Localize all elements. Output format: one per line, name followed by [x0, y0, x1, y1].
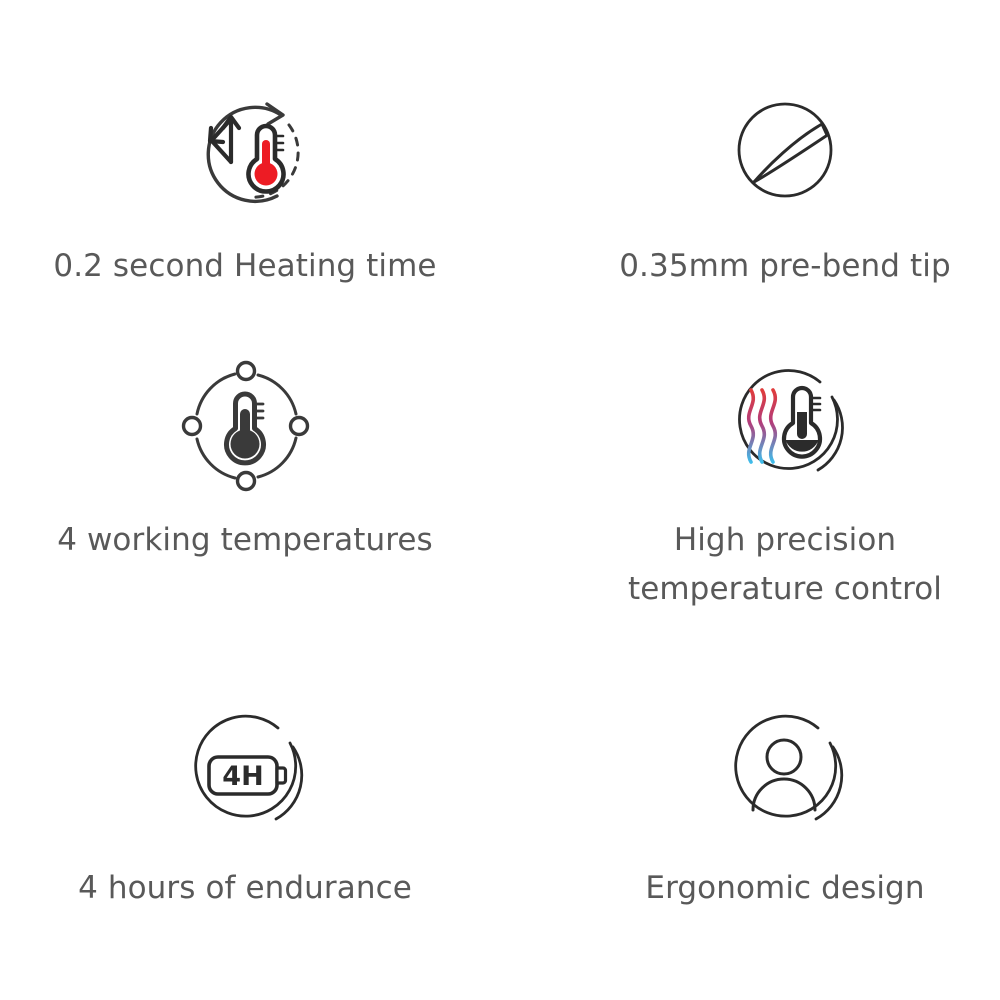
thermometer-nodes-icon: [170, 352, 320, 502]
feature-label-precision-temp-control: High precision temperature control: [628, 516, 942, 614]
feature-item-pre-bend-tip: 0.35mm pre-bend tip: [585, 78, 985, 291]
feature-label-pre-bend-tip: 0.35mm pre-bend tip: [619, 242, 951, 291]
feature-grid: 0.2 second Heating time 0.35mm pre-bend …: [0, 0, 1000, 1000]
heat-waves-thermometer-icon: [710, 352, 860, 502]
feature-item-working-temperatures: 4 working temperatures: [45, 352, 445, 565]
feature-item-endurance: 4H 4 hours of endurance: [45, 700, 445, 913]
feature-label-heating-time: 0.2 second Heating time: [53, 242, 436, 291]
feature-label-working-temperatures: 4 working temperatures: [57, 516, 433, 565]
feature-item-precision-temp-control: High precision temperature control: [585, 352, 985, 614]
battery-4h-icon: 4H: [170, 700, 320, 850]
feature-label-ergonomic-design: Ergonomic design: [645, 864, 924, 913]
clock-thermometer-icon: [170, 78, 320, 228]
feature-item-heating-time: 0.2 second Heating time: [45, 78, 445, 291]
person-circle-icon: [710, 700, 860, 850]
feature-label-endurance: 4 hours of endurance: [78, 864, 412, 913]
feature-item-ergonomic-design: Ergonomic design: [585, 700, 985, 913]
bent-tip-circle-icon: [710, 78, 860, 228]
battery-badge-text: 4H: [222, 761, 263, 792]
